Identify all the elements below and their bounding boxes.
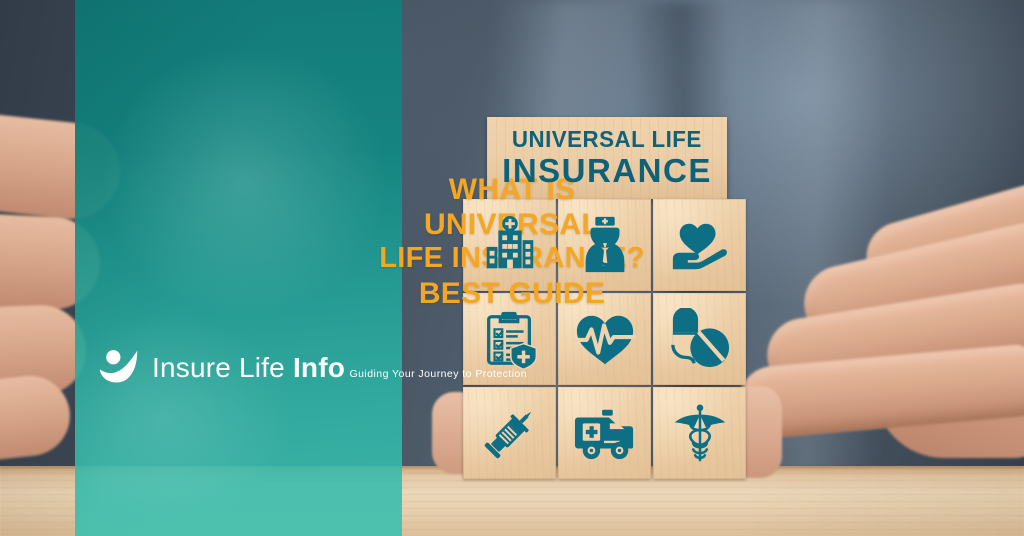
clipboard-checklist-shield-icon: [479, 308, 541, 370]
heart-pulse-icon: [574, 308, 636, 370]
hospital-building-icon: [479, 214, 541, 276]
syringe-icon: [479, 402, 541, 464]
headline-line-4: BEST GUIDE: [0, 276, 1024, 311]
sign-line-1: UNIVERSAL LIFE: [512, 128, 702, 151]
wooden-sign-plank: UNIVERSAL LIFE INSURANCE: [487, 117, 727, 199]
logo-name-bold: Info: [293, 352, 345, 383]
doctor-stethoscope-icon: [574, 214, 636, 276]
brand-logo[interactable]: Insure Life Info Guiding Your Journey to…: [96, 345, 527, 390]
caduceus-icon: [669, 402, 731, 464]
cube-syringe: [463, 387, 556, 479]
cube-ambulance: [558, 387, 651, 479]
hand-holding-heart-icon: [669, 214, 731, 276]
ambulance-icon: [574, 402, 636, 464]
person-swoosh-icon: [96, 345, 141, 390]
cube-caduceus: [653, 387, 746, 479]
logo-name-light: Insure Life: [152, 352, 293, 383]
sign-line-2: INSURANCE: [502, 153, 712, 189]
insurance-article-banner: UNIVERSAL LIFE INSURANCE: [0, 0, 1024, 536]
wooden-cube-grid: [463, 199, 746, 479]
logo-name: Insure Life Info: [152, 352, 345, 383]
pills-capsule-icon: [669, 308, 731, 370]
logo-text-block: Insure Life Info Guiding Your Journey to…: [152, 354, 527, 382]
